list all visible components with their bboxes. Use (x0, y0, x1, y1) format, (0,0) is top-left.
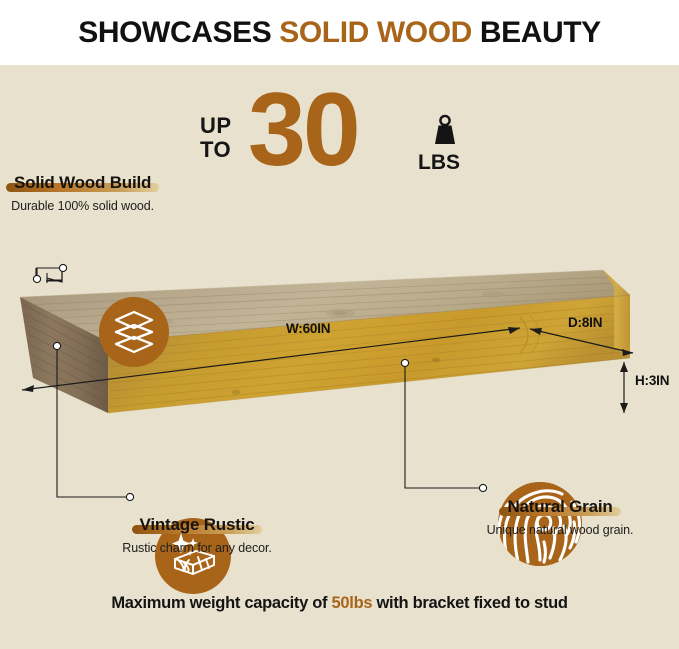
dimension-depth-label: D:8IN (568, 315, 602, 330)
icon-circle-solid-wood (99, 297, 169, 367)
dimension-width-label: W:60IN (286, 321, 330, 336)
main-canvas: UP TO 30 LBS Solid Wood Build Durable 10… (0, 65, 679, 649)
feature-subtitle: Unique natural wood grain. (462, 523, 658, 537)
feature-subtitle: Rustic charm for any decor. (108, 541, 286, 555)
feature-title-wrap: Natural Grain (499, 497, 620, 517)
footer-caption: Maximum weight capacity of 50lbs with br… (0, 594, 679, 613)
title-segment-accent: SOLID WOOD (279, 16, 472, 49)
dimension-height-label: H:3IN (635, 373, 669, 388)
to-label: TO (200, 138, 232, 162)
up-label: UP (200, 114, 232, 138)
title-segment-two: BEAUTY (472, 16, 601, 49)
feature-title: Natural Grain (507, 497, 612, 516)
feature-vintage-rustic: Vintage Rustic Rustic charm for any deco… (108, 515, 286, 555)
page-title: SHOWCASES SOLID WOOD BEAUTY (78, 16, 601, 50)
feature-subtitle: Durable 100% solid wood. (6, 199, 159, 213)
header-banner: SHOWCASES SOLID WOOD BEAUTY (0, 0, 679, 65)
footer-text-before: Maximum weight capacity of (111, 594, 331, 612)
feature-title-wrap: Vintage Rustic (132, 515, 263, 535)
capacity-unit: LBS (418, 151, 460, 175)
feature-title-wrap: Solid Wood Build (6, 173, 159, 193)
feature-title: Vintage Rustic (140, 515, 255, 534)
feature-natural-grain: Natural Grain Unique natural wood grain. (462, 497, 658, 537)
title-segment-one: SHOWCASES (78, 16, 279, 49)
feature-title: Solid Wood Build (14, 173, 151, 192)
footer-highlight: 50lbs (332, 594, 373, 612)
feature-solid-wood-build: Solid Wood Build Durable 100% solid wood… (6, 173, 159, 213)
weight-icon (428, 114, 462, 148)
stacked-layers-icon (110, 308, 158, 356)
footer-text-after: with bracket fixed to stud (372, 594, 567, 612)
infographic-stage: SHOWCASES SOLID WOOD BEAUTY (0, 0, 679, 649)
capacity-number: 30 (248, 78, 358, 182)
up-to-label: UP TO (200, 114, 232, 162)
weight-capacity-block: UP TO 30 LBS (196, 88, 486, 188)
